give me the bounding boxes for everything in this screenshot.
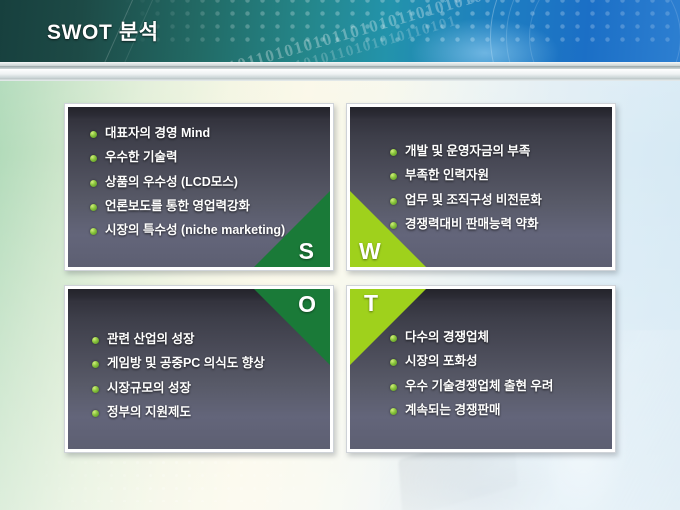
list-item-label: 정부의 지원제도 [107, 405, 191, 419]
list-item-label: 상품의 우수성 (LCD모스) [105, 175, 238, 189]
list-item: 우수한 기술력 [90, 151, 320, 165]
swot-grid: 대표자의 경영 Mind 우수한 기술력 상품의 우수성 (LCD모스) 언론보… [64, 103, 616, 453]
list-item: 상품의 우수성 (LCD모스) [90, 176, 320, 190]
bullet-icon [90, 228, 97, 235]
list-item: 계속되는 경쟁판매 [390, 404, 602, 418]
list-item-label: 게임방 및 공중PC 의식도 향상 [107, 356, 265, 370]
list-item-label: 부족한 인력자원 [405, 168, 489, 182]
list-item: 정부의 지원제도 [92, 406, 320, 420]
list-item: 대표자의 경영 Mind [90, 127, 320, 141]
bullet-icon [390, 149, 397, 156]
strengths-letter: S [299, 240, 314, 263]
bullet-icon [92, 410, 99, 417]
opportunities-letter: O [298, 293, 316, 316]
bullet-icon [92, 386, 99, 393]
bullet-icon [390, 408, 397, 415]
list-item: 개발 및 운영자금의 부족 [390, 145, 602, 159]
bullet-icon [90, 155, 97, 162]
list-item-label: 개발 및 운영자금의 부족 [405, 144, 530, 158]
bullet-icon [390, 173, 397, 180]
list-item-label: 관련 산업의 성장 [107, 332, 194, 346]
bullet-icon [92, 361, 99, 368]
list-item: 우수 기술경쟁업체 출현 우려 [390, 380, 602, 394]
list-item: 부족한 인력자원 [390, 169, 602, 183]
swot-quadrant-strengths[interactable]: 대표자의 경영 Mind 우수한 기술력 상품의 우수성 (LCD모스) 언론보… [64, 103, 334, 271]
swot-quadrant-weaknesses[interactable]: 개발 및 운영자금의 부족 부족한 인력자원 업무 및 조직구성 비전문화 경쟁… [346, 103, 616, 271]
slide-canvas: 0101010101101010101101010110101010 01010… [0, 0, 680, 510]
bullet-icon [90, 131, 97, 138]
list-item: 시장규모의 성장 [92, 382, 320, 396]
threats-letter: T [364, 292, 378, 315]
bullet-icon [90, 204, 97, 211]
weaknesses-letter: W [359, 240, 381, 263]
swot-quadrant-threats[interactable]: 다수의 경쟁업체 시장의 포화성 우수 기술경쟁업체 출현 우려 계속되는 경쟁… [346, 285, 616, 453]
list-item-label: 시장규모의 성장 [107, 381, 191, 395]
header-divider-band-3 [0, 69, 680, 78]
strengths-corner-triangle [254, 191, 330, 267]
bullet-icon [90, 180, 97, 187]
list-item-label: 우수한 기술력 [105, 150, 177, 164]
bullet-icon [390, 384, 397, 391]
box-top-cap [350, 107, 612, 120]
header-glow-decoration [410, 18, 560, 62]
box-top-cap [68, 107, 330, 120]
page-title: SWOT 분석 [47, 16, 159, 46]
list-item-label: 언론보도를 통한 영업력강화 [105, 199, 250, 213]
list-item-label: 계속되는 경쟁판매 [405, 403, 500, 417]
opportunities-corner-triangle [254, 289, 330, 365]
list-item-label: 대표자의 경영 Mind [105, 126, 210, 140]
header-divider-band-4 [0, 78, 680, 81]
list-item-label: 우수 기술경쟁업체 출현 우려 [405, 379, 553, 393]
swot-quadrant-opportunities[interactable]: 관련 산업의 성장 게임방 및 공중PC 의식도 향상 시장규모의 성장 정부의… [64, 285, 334, 453]
threats-corner-triangle [350, 289, 426, 365]
bullet-icon [92, 337, 99, 344]
